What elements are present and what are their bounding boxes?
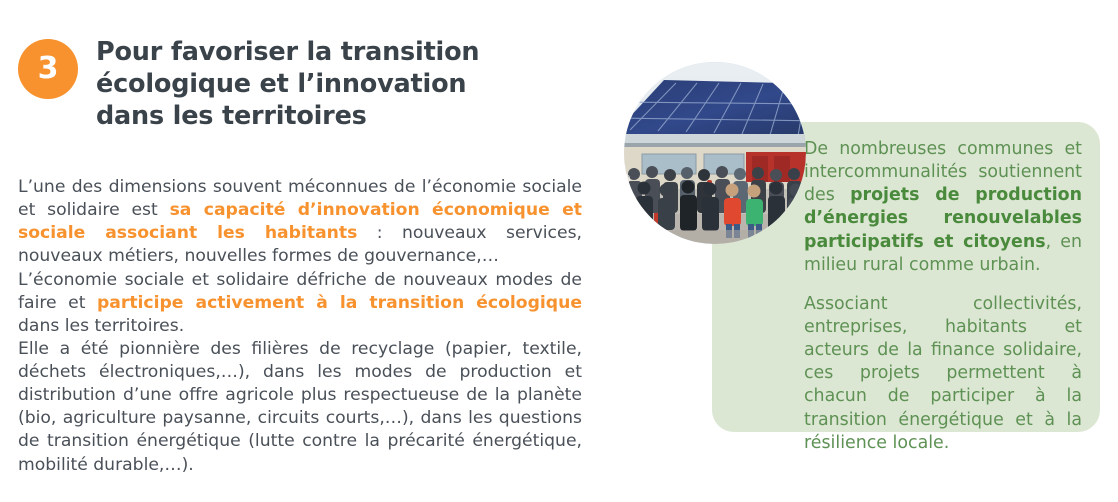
right-media-column: De nombreuses communes et intercommunali… [610, 0, 1118, 502]
section-heading: 3 Pour favoriser la transition écologiqu… [18, 36, 479, 132]
heading-line-1: Pour favoriser la transition [96, 36, 479, 68]
body-paragraph-1: L’une des dimensions souvent méconnues d… [18, 176, 582, 269]
photo-thumbnail [624, 62, 806, 244]
body-p2-run-2: dans les territoires. [18, 316, 184, 336]
heading-line-2: écologique et l’innovation [96, 68, 479, 100]
body-p3-run-1: Elle a été pionnière des filières de rec… [18, 339, 582, 475]
callout-p2-run-1: Associant collectivités, entreprises, ha… [804, 294, 1082, 453]
callout-paragraph-2: Associant collectivités, entreprises, ha… [804, 293, 1082, 455]
body-p2-highlight: participe activement à la transition éco… [97, 293, 582, 313]
body-text: L’une des dimensions souvent méconnues d… [18, 176, 582, 477]
body-paragraph-3: Elle a été pionnière des filières de rec… [18, 338, 582, 477]
section-number-badge: 3 [18, 39, 78, 99]
left-content-column: 3 Pour favoriser la transition écologiqu… [0, 0, 610, 502]
body-paragraph-2: L’économie sociale et solidaire défriche… [18, 269, 582, 338]
photo-illustration [624, 62, 806, 244]
heading-line-3: dans les territoires [96, 100, 479, 132]
callout-paragraph-1: De nombreuses communes et intercommunali… [804, 138, 1082, 277]
section-number: 3 [38, 54, 59, 84]
page-title: Pour favoriser la transition écologique … [96, 36, 479, 132]
